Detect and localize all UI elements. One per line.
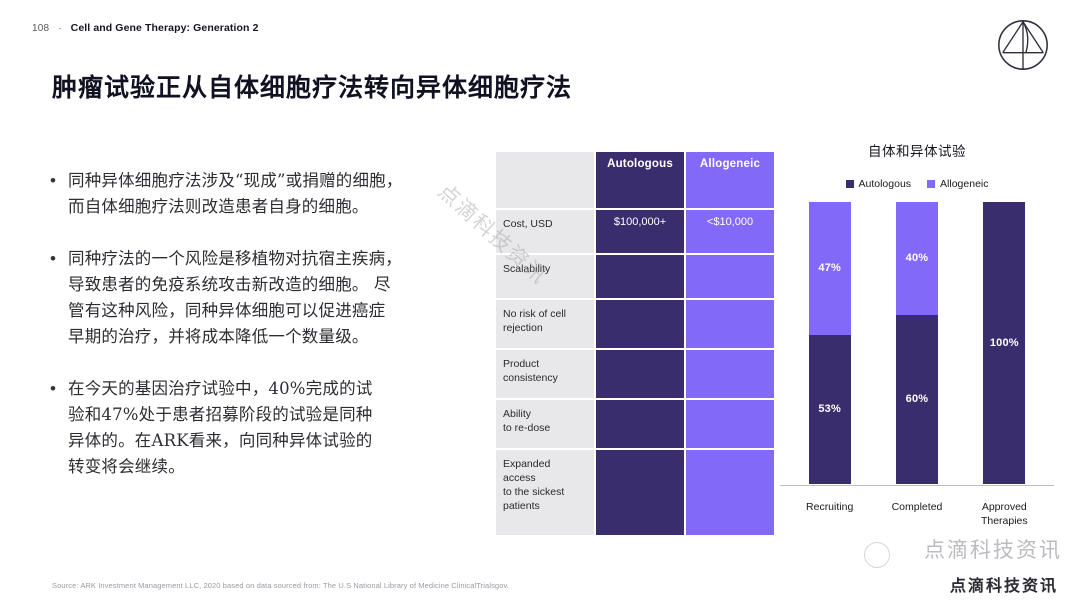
bullet-line: 管有这种风险，同种异体细胞可以促进癌症	[68, 298, 402, 324]
legend-item-autologous: Autologous	[846, 178, 912, 190]
bar-value-allogeneic: 47%	[818, 262, 841, 274]
bullet-item: • 同种异体细胞疗法涉及“现成”或捐赠的细胞， 而自体细胞疗法则改造患者自身的细…	[50, 168, 480, 220]
table-row: Ability to re-dose	[496, 400, 774, 450]
x-label-completed: Completed	[880, 500, 954, 528]
page-title: 肿瘤试验正从自体细胞疗法转向异体细胞疗法	[52, 68, 572, 104]
legend-swatch-icon	[846, 180, 854, 188]
table-header-row: Autologous Allogeneic	[496, 152, 774, 210]
watermark-badge-icon	[864, 542, 890, 568]
column-header-allogeneic-label: Allogeneic	[700, 158, 760, 170]
bullet-line: 导致患者的免疫系统攻击新改造的细胞。 尽	[68, 272, 402, 298]
row-label: Product consistency	[496, 350, 594, 398]
watermark-brand-solid: 点滴科技资讯	[950, 572, 1058, 596]
table-row: No risk of cell rejection	[496, 300, 774, 350]
legend-label: Autologous	[859, 178, 912, 190]
page-number: 108	[32, 23, 49, 34]
row-label: Expanded access to the sickest patients	[496, 450, 594, 535]
bullet-text: 在今天的基因治疗试验中，40%完成的试 验和47%处于患者招募阶段的试验是同种 …	[68, 376, 372, 480]
table-row: Product consistency	[496, 350, 774, 400]
bullet-item: • 在今天的基因治疗试验中，40%完成的试 验和47%处于患者招募阶段的试验是同…	[50, 376, 480, 480]
table-row: Cost, USD $100,000+ <$10,000	[496, 210, 774, 255]
chart-x-axis	[780, 485, 1054, 486]
bullet-line: 而自体细胞疗法则改造患者自身的细胞。	[68, 194, 403, 220]
cell-allogeneic-value: <$10,000	[707, 216, 753, 228]
cell-autologous	[594, 400, 686, 448]
chart-plot-area: 47% 53% 40% 60% 100%	[786, 204, 1048, 494]
bullet-line: 在今天的基因治疗试验中，40%完成的试	[68, 376, 372, 402]
bullet-line: 早期的治疗，并将成本降低一个数量级。	[68, 324, 402, 350]
bullet-item: • 同种疗法的一个风险是移植物对抗宿主疾病， 导致患者的免疫系统攻击新改造的细胞…	[50, 246, 480, 350]
legend-swatch-icon	[927, 180, 935, 188]
bar-segment-autologous: 60%	[896, 315, 938, 484]
table-row: Expanded access to the sickest patients	[496, 450, 774, 535]
bar-value-allogeneic: 40%	[906, 252, 929, 264]
cell-allogeneic	[686, 300, 774, 348]
cell-autologous	[594, 450, 686, 535]
cell-allogeneic: <$10,000	[686, 210, 774, 253]
source-note: Source: ARK Investment Management LLC, 2…	[52, 581, 752, 590]
cell-autologous	[594, 300, 686, 348]
column-header-autologous: Autologous	[594, 152, 686, 208]
chart-x-labels: Recruiting Completed Approved Therapies	[786, 500, 1048, 528]
bar-value-autologous: 60%	[906, 393, 929, 405]
bar-value-autologous: 53%	[818, 403, 841, 415]
row-label: No risk of cell rejection	[496, 300, 594, 348]
legend-label: Allogeneic	[940, 178, 988, 190]
legend-item-allogeneic: Allogeneic	[927, 178, 988, 190]
cell-autologous	[594, 255, 686, 298]
bullet-line: 转变将会继续。	[68, 454, 372, 480]
x-label-recruiting: Recruiting	[793, 500, 867, 528]
bullet-marker-icon: •	[50, 376, 68, 480]
bullet-line: 异体的。在ARK看来，向同种异体试验的	[68, 428, 372, 454]
chart-title: 自体和异体试验	[786, 140, 1048, 160]
cell-autologous: $100,000+	[594, 210, 686, 253]
bullet-line: 同种异体细胞疗法涉及“现成”或捐赠的细胞，	[68, 168, 403, 194]
table-corner-cell	[496, 152, 594, 208]
chart-bars: 47% 53% 40% 60% 100%	[786, 202, 1048, 484]
bar-segment-allogeneic: 47%	[809, 202, 851, 335]
bullet-marker-icon: •	[50, 246, 68, 350]
bullet-text: 同种疗法的一个风险是移植物对抗宿主疾病， 导致患者的免疫系统攻击新改造的细胞。 …	[68, 246, 402, 350]
table-row: Scalability	[496, 255, 774, 300]
cell-allogeneic	[686, 400, 774, 448]
slide-header: 108 · Cell and Gene Therapy: Generation …	[32, 22, 259, 34]
column-header-allogeneic: Allogeneic	[686, 152, 774, 208]
bar-recruiting: 47% 53%	[809, 202, 851, 484]
stacked-bar-chart: 自体和异体试验 Autologous Allogeneic 47% 53% 40…	[786, 140, 1048, 540]
bar-segment-autologous: 53%	[809, 335, 851, 484]
bar-segment-autologous: 100%	[983, 202, 1025, 484]
column-header-autologous-label: Autologous	[607, 158, 673, 170]
cell-allogeneic	[686, 255, 774, 298]
cell-allogeneic	[686, 450, 774, 535]
ark-logo-icon	[994, 16, 1052, 74]
bullet-text: 同种异体细胞疗法涉及“现成”或捐赠的细胞， 而自体细胞疗法则改造患者自身的细胞。	[68, 168, 403, 220]
cell-autologous	[594, 350, 686, 398]
cell-allogeneic	[686, 350, 774, 398]
row-label: Cost, USD	[496, 210, 594, 253]
bar-value-autologous: 100%	[990, 337, 1019, 349]
comparison-table: Autologous Allogeneic Cost, USD $100,000…	[496, 152, 774, 535]
bar-completed: 40% 60%	[896, 202, 938, 484]
header-separator: ·	[58, 23, 61, 34]
bullet-list: • 同种异体细胞疗法涉及“现成”或捐赠的细胞， 而自体细胞疗法则改造患者自身的细…	[50, 168, 480, 506]
bullet-line: 验和47%处于患者招募阶段的试验是同种	[68, 402, 372, 428]
bar-segment-allogeneic: 40%	[896, 202, 938, 315]
bullet-line: 同种疗法的一个风险是移植物对抗宿主疾病，	[68, 246, 402, 272]
row-label: Scalability	[496, 255, 594, 298]
cell-autologous-value: $100,000+	[614, 216, 666, 228]
bar-approved-therapies: 100%	[983, 202, 1025, 484]
deck-title: Cell and Gene Therapy: Generation 2	[71, 22, 259, 34]
x-label-approved-therapies: Approved Therapies	[967, 500, 1041, 528]
bullet-marker-icon: •	[50, 168, 68, 220]
row-label: Ability to re-dose	[496, 400, 594, 448]
chart-legend: Autologous Allogeneic	[786, 178, 1048, 190]
